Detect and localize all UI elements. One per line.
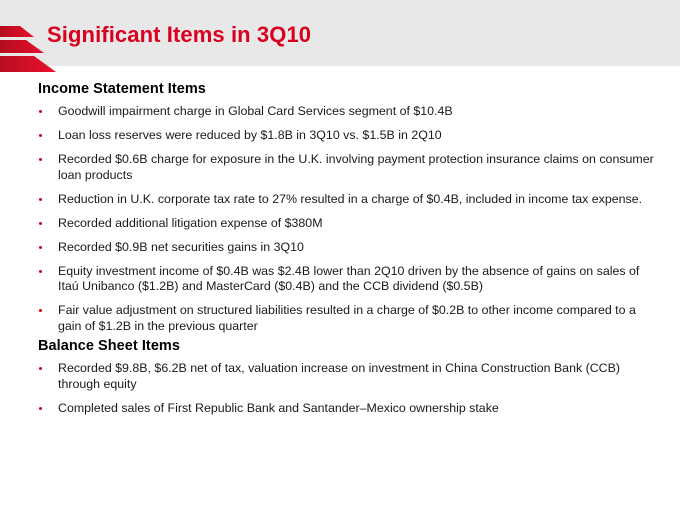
list-item-text: Reduction in U.K. corporate tax rate to … xyxy=(58,192,654,208)
bullet-list-balance: Recorded $9.8B, $6.2B net of tax, valuat… xyxy=(38,361,654,416)
list-item-text: Fair value adjustment on structured liab… xyxy=(58,303,654,334)
list-item-text: Loan loss reserves were reduced by $1.8B… xyxy=(58,128,654,144)
list-item: Fair value adjustment on structured liab… xyxy=(38,303,654,334)
page-title: Significant Items in 3Q10 xyxy=(47,22,311,48)
list-item: Equity investment income of $0.4B was $2… xyxy=(38,264,654,295)
list-item: Recorded additional litigation expense o… xyxy=(38,216,654,232)
list-item: Reduction in U.K. corporate tax rate to … xyxy=(38,192,654,208)
list-item: Recorded $0.9B net securities gains in 3… xyxy=(38,240,654,256)
bullet-dot-icon xyxy=(39,367,42,370)
bullet-list-income: Goodwill impairment charge in Global Car… xyxy=(38,104,654,334)
bullet-dot-icon xyxy=(39,309,42,312)
list-item-text: Recorded additional litigation expense o… xyxy=(58,216,654,232)
bullet-dot-icon xyxy=(39,270,42,273)
slide: Significant Items in 3Q10 Income Stateme… xyxy=(0,0,680,510)
list-item-text: Goodwill impairment charge in Global Car… xyxy=(58,104,654,120)
list-item: Completed sales of First Republic Bank a… xyxy=(38,401,654,417)
list-item: Recorded $0.6B charge for exposure in th… xyxy=(38,152,654,183)
bullet-dot-icon xyxy=(39,158,42,161)
list-item: Goodwill impairment charge in Global Car… xyxy=(38,104,654,120)
list-item: Recorded $9.8B, $6.2B net of tax, valuat… xyxy=(38,361,654,392)
list-item-text: Equity investment income of $0.4B was $2… xyxy=(58,264,654,295)
section-heading: Income Statement Items xyxy=(38,81,654,97)
section-income-statement-items: Income Statement Items Goodwill impairme… xyxy=(38,81,654,334)
slide-body: Income Statement Items Goodwill impairme… xyxy=(0,66,680,510)
bullet-dot-icon xyxy=(39,134,42,137)
bullet-dot-icon xyxy=(39,407,42,410)
list-item-text: Completed sales of First Republic Bank a… xyxy=(58,401,654,417)
bullet-dot-icon xyxy=(39,246,42,249)
section-balance-sheet-items: Balance Sheet Items Recorded $9.8B, $6.2… xyxy=(38,338,654,416)
bullet-dot-icon xyxy=(39,198,42,201)
list-item: Loan loss reserves were reduced by $1.8B… xyxy=(38,128,654,144)
section-heading: Balance Sheet Items xyxy=(38,338,654,354)
bullet-dot-icon xyxy=(39,222,42,225)
list-item-text: Recorded $0.9B net securities gains in 3… xyxy=(58,240,654,256)
list-item-text: Recorded $0.6B charge for exposure in th… xyxy=(58,152,654,183)
list-item-text: Recorded $9.8B, $6.2B net of tax, valuat… xyxy=(58,361,654,392)
bullet-dot-icon xyxy=(39,110,42,113)
